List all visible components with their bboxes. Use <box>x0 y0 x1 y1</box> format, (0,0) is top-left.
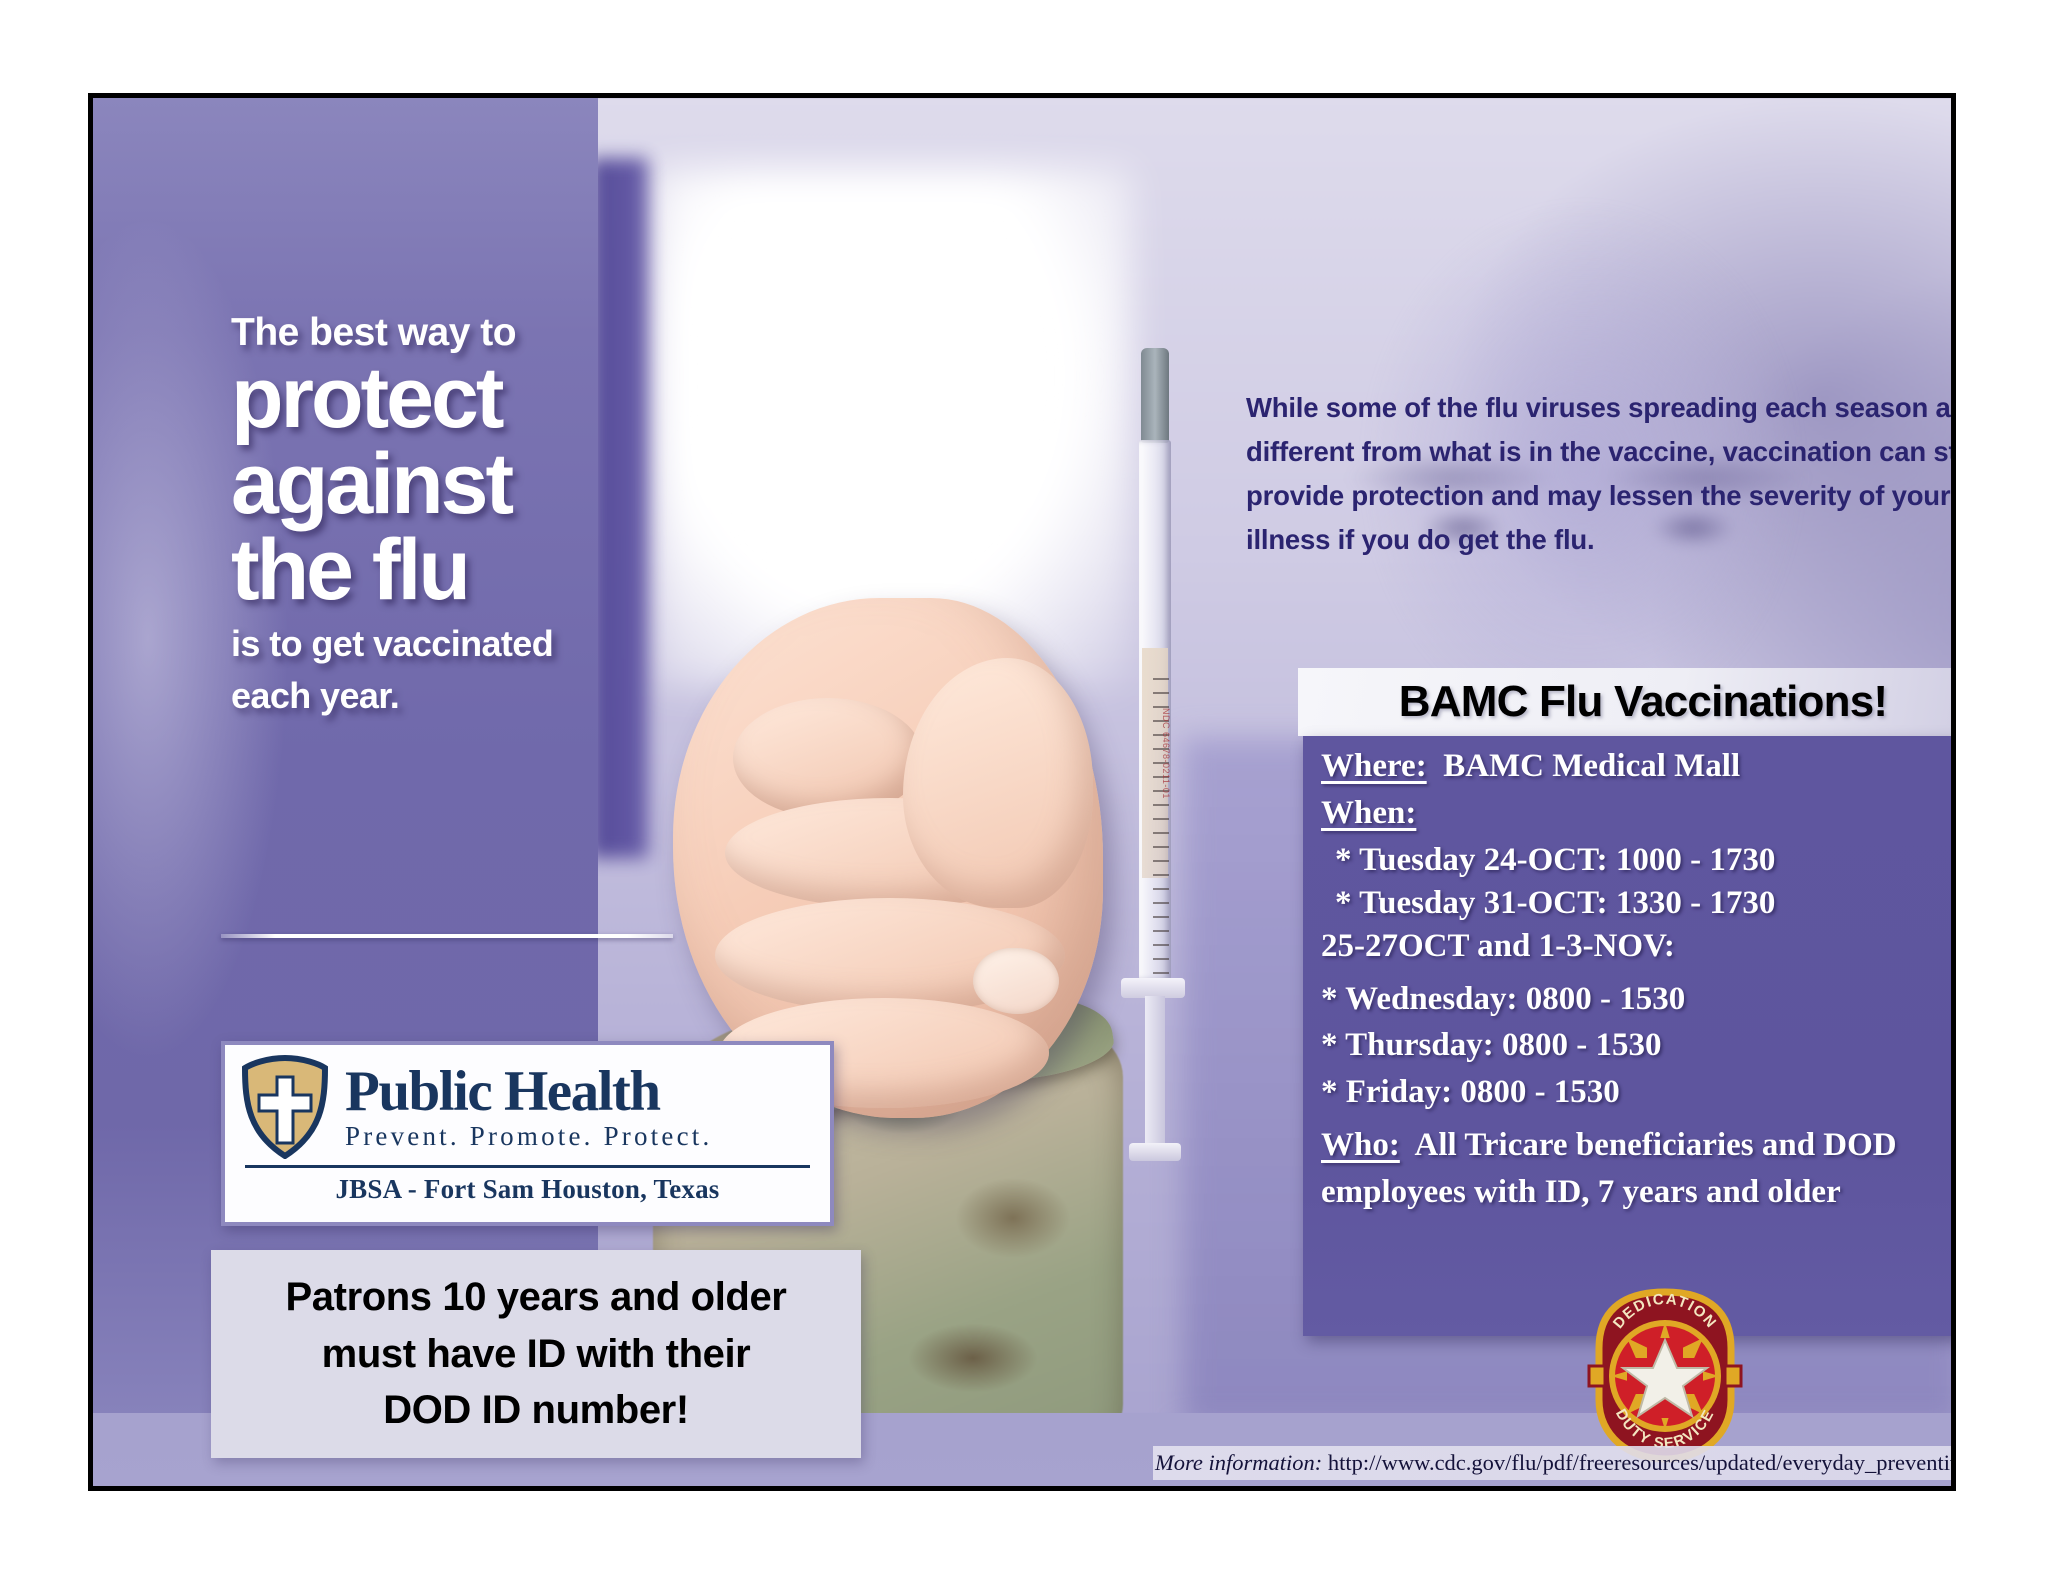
patrons-line-3: DOD ID number! <box>383 1384 689 1437</box>
patrons-line-2: must have ID with their <box>322 1328 751 1381</box>
poster-root: NDC 64678-0211-01 The best way to protec… <box>0 0 2048 1583</box>
headline-block: The best way to protect against the flu … <box>231 313 661 718</box>
bamc-weekday-item: * Wednesday: 0800 - 1530 <box>1321 979 1956 1020</box>
bamc-when-label: When: <box>1321 795 1416 831</box>
flu-info-paragraph: While some of the flu viruses spreading … <box>1246 386 1956 562</box>
logo-title: Public Health <box>345 1063 816 1120</box>
syringe-label: NDC 64678-0211-01 <box>1141 708 1171 918</box>
logo-tagline: Prevent. Promote. Protect. <box>345 1121 816 1152</box>
bamc-who-label: Who: <box>1321 1127 1400 1163</box>
headline-word-protect: protect <box>231 356 661 440</box>
bamc-who-row: Who: All Tricare beneficiaries and DOD <box>1321 1125 1956 1166</box>
more-information-footer[interactable]: More information: http://www.cdc.gov/flu… <box>1153 1446 1956 1480</box>
logo-top-row: Public Health Prevent. Promote. Protect. <box>239 1055 816 1159</box>
poster-frame: NDC 64678-0211-01 The best way to protec… <box>88 93 1956 1491</box>
syringe-plunger <box>1145 996 1165 1146</box>
headline-word-against: against <box>231 442 661 526</box>
bamc-who-value-2: employees with ID, 7 years and older <box>1321 1172 1956 1213</box>
bamc-where-row: Where: BAMC Medical Mall <box>1321 746 1956 787</box>
bamc-when-row: When: <box>1321 793 1956 834</box>
shield-cross-icon <box>239 1055 331 1159</box>
bamc-where-value: BAMC Medical Mall <box>1443 748 1740 784</box>
logo-divider <box>245 1165 810 1168</box>
syringe-icon: NDC 64678-0211-01 <box>1123 348 1183 1278</box>
bamc-date-range: 25-27OCT and 1-3-NOV: <box>1321 926 1956 967</box>
headline-word-the-flu: the flu <box>231 528 661 612</box>
patrons-line-1: Patrons 10 years and older <box>286 1271 787 1324</box>
headline-divider <box>221 934 673 938</box>
bamc-title-text: BAMC Flu Vaccinations! <box>1399 677 1887 727</box>
headline-line-2: is to get vaccinated <box>231 623 661 665</box>
bamc-unit-crest-icon: DEDICATION DUTY SERVICE <box>1585 1288 1745 1463</box>
patrons-notice: Patrons 10 years and older must have ID … <box>211 1250 861 1458</box>
syringe-thumb-rest <box>1129 1143 1181 1161</box>
bamc-weekday-item: * Friday: 0800 - 1530 <box>1321 1072 1956 1113</box>
logo-location: JBSA - Fort Sam Houston, Texas <box>239 1174 816 1205</box>
bamc-details-box: Where: BAMC Medical Mall When: * Tuesday… <box>1303 736 1956 1336</box>
bamc-weekday-item: * Thursday: 0800 - 1530 <box>1321 1025 1956 1066</box>
public-health-logo-card: Public Health Prevent. Promote. Protect.… <box>221 1041 834 1226</box>
headline-line-3: each year. <box>231 675 661 717</box>
logo-text: Public Health Prevent. Promote. Protect. <box>345 1063 816 1152</box>
footer-url[interactable]: http://www.cdc.gov/flu/pdf/freeresources… <box>1328 1450 1956 1475</box>
bamc-when-item: * Tuesday 31-OCT: 1330 - 1730 <box>1335 883 1956 924</box>
headline-line-1: The best way to <box>231 313 661 354</box>
footer-prefix: More information: <box>1155 1450 1322 1475</box>
syringe-cap <box>1141 348 1169 443</box>
bamc-who-value: All Tricare beneficiaries and DOD <box>1415 1127 1897 1163</box>
bamc-title-bar: BAMC Flu Vaccinations! <box>1298 668 1956 736</box>
bamc-where-label: Where: <box>1321 748 1427 784</box>
fingernail <box>973 948 1059 1014</box>
syringe-flange <box>1121 978 1185 998</box>
bamc-when-item: * Tuesday 24-OCT: 1000 - 1730 <box>1335 840 1956 881</box>
hand <box>673 598 1103 1118</box>
thumb <box>903 658 1093 908</box>
